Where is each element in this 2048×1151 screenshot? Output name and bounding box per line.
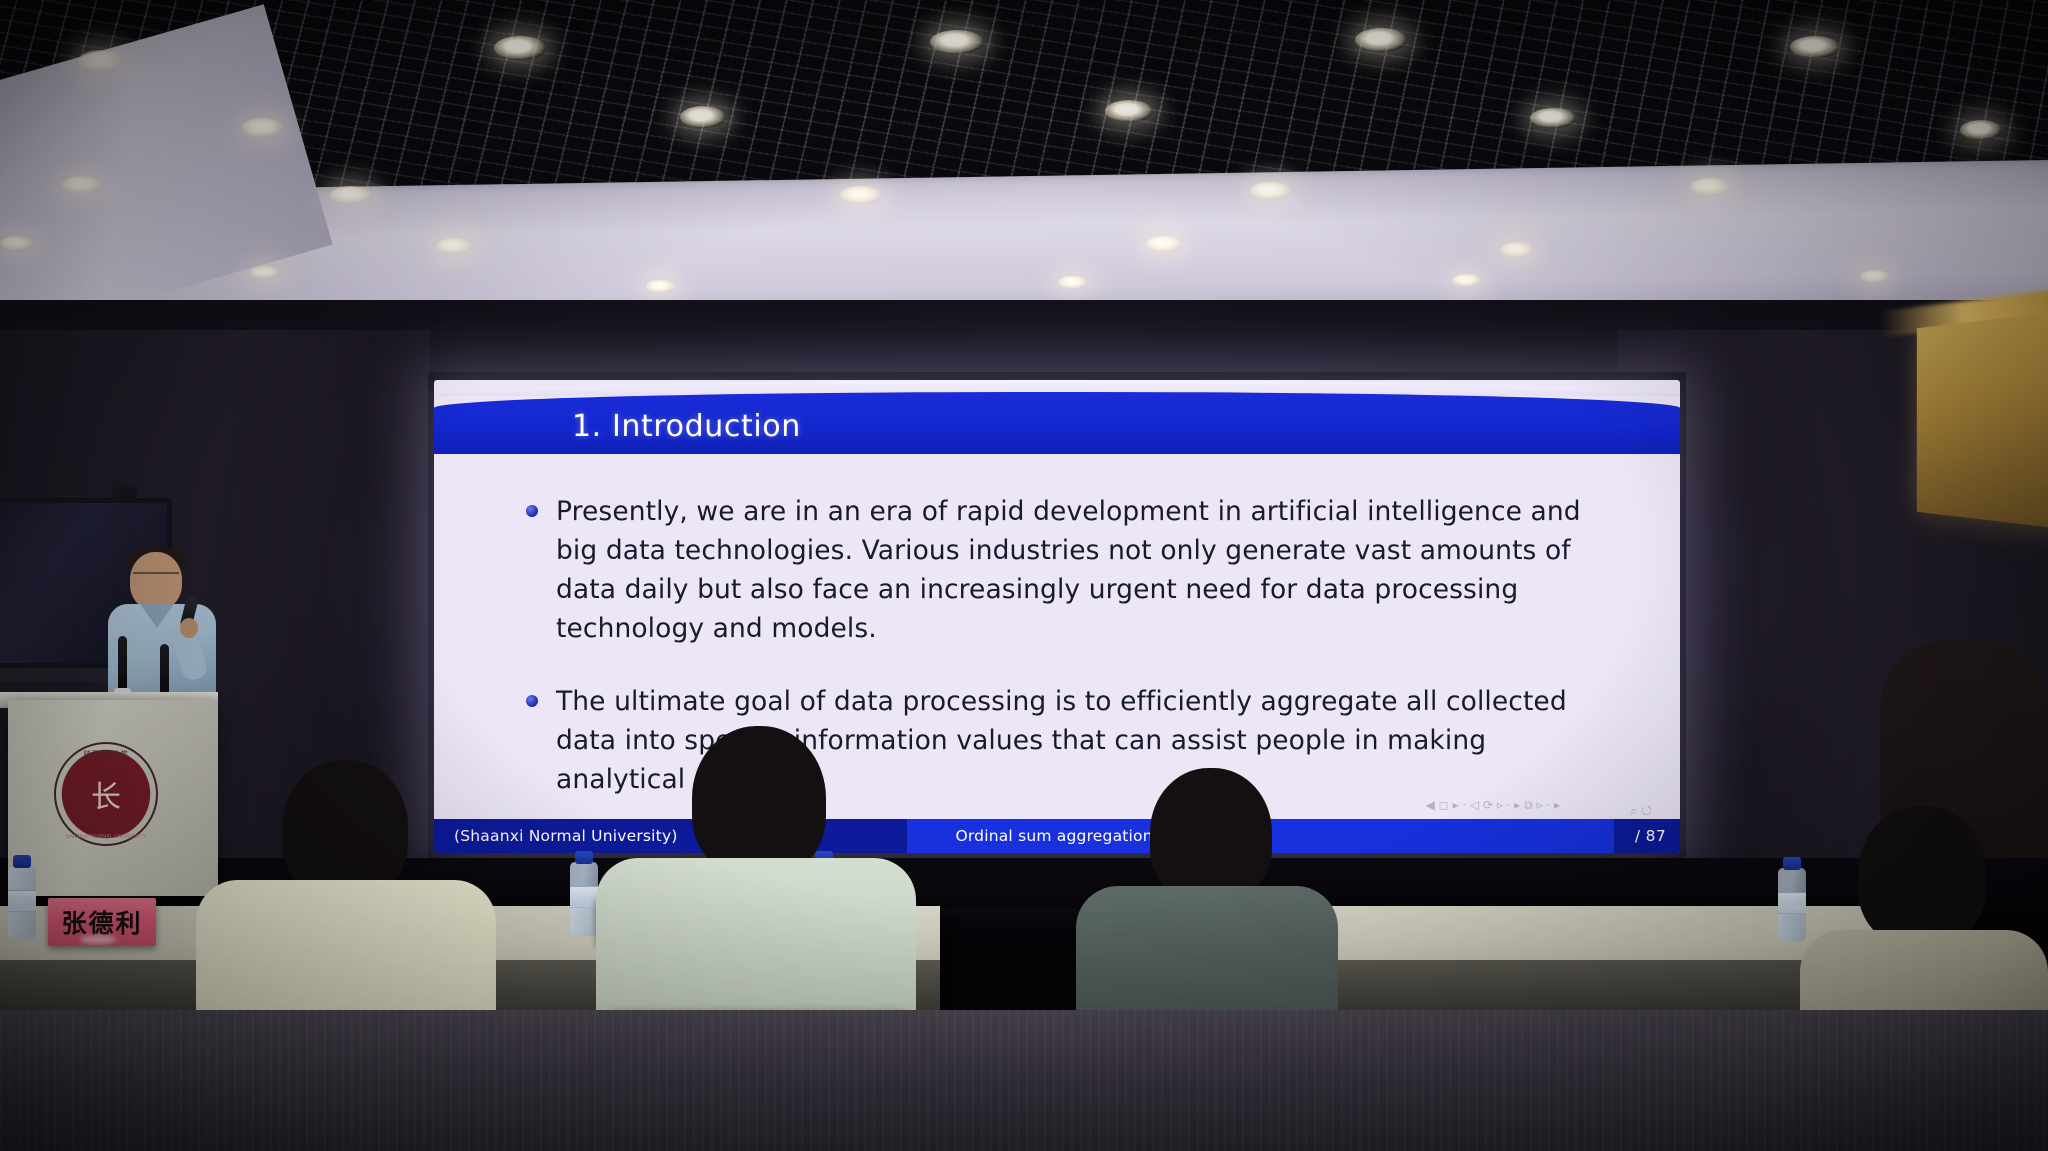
ceiling-downlight	[1250, 182, 1292, 200]
lecture-hall-photo: 1. Introduction Presently, we are in an …	[0, 0, 2048, 1151]
water-bottle	[8, 866, 36, 940]
ceiling-downlight	[436, 238, 472, 254]
water-bottle	[570, 862, 598, 936]
ceiling-downlight	[62, 176, 102, 194]
zoom-controls[interactable]: ⌕ ↺	[1630, 803, 1652, 819]
bullet-dot-icon	[526, 695, 538, 707]
ceiling-downlight	[1690, 178, 1730, 196]
ceiling-downlight	[930, 30, 984, 54]
ceiling-downlight	[78, 50, 124, 72]
ceiling-downlight	[1355, 28, 1407, 52]
attendee-head	[692, 726, 826, 876]
ceiling-downlight	[250, 266, 280, 279]
ceiling-downlight	[1058, 276, 1088, 289]
slide-bullet: Presently, we are in an era of rapid dev…	[526, 492, 1624, 648]
presenter-head	[130, 552, 182, 610]
ceiling-downlight	[680, 106, 726, 128]
attendee-head	[1150, 768, 1272, 902]
ceiling-downlight	[1452, 274, 1482, 287]
footer-page-number: / 87	[1614, 819, 1680, 853]
attendee-head	[282, 760, 408, 898]
carpet-floor	[0, 1010, 2048, 1151]
navigation-glyphs[interactable]: ◀ ◻ ▸ · ◁ ⟳ ▹ · ▸ ⧉ ▹ · ▸	[1426, 798, 1560, 813]
bottle-label	[570, 886, 598, 908]
ceiling-downlight	[1146, 236, 1182, 252]
ceiling-downlight	[646, 280, 676, 293]
bottle-cap	[1783, 857, 1801, 870]
ceiling-downlight	[1960, 120, 2002, 140]
slide-title-bar: 1. Introduction	[434, 392, 1680, 454]
bottle-cap	[13, 855, 31, 868]
podium: 陕西师范大学 长 SHAANXI NORMAL UNIVERSITY	[8, 700, 218, 896]
slide-bullet-text: Presently, we are in an era of rapid dev…	[556, 492, 1586, 648]
podium-microphone-left	[118, 636, 127, 692]
bullet-dot-icon	[526, 505, 538, 517]
right-wall-warm-panel	[1917, 310, 2048, 529]
bottle-label	[8, 890, 36, 912]
ceiling-downlight	[1105, 100, 1153, 122]
ceiling-downlight	[1530, 108, 1576, 128]
seal-bottom-text: SHAANXI NORMAL UNIVERSITY	[56, 834, 156, 840]
ceiling-downlight	[242, 118, 284, 138]
ceiling-downlight	[1790, 36, 1840, 58]
slide-title: 1. Introduction	[572, 409, 801, 444]
beamer-navigation-bar[interactable]: ◀ ◻ ▸ · ◁ ⟳ ▹ · ▸ ⧉ ▹ · ▸	[1426, 798, 1560, 813]
seal-top-text: 陕西师范大学	[56, 749, 156, 759]
presenter-hand	[180, 618, 198, 638]
carpet-texture	[0, 1010, 2048, 1151]
name-placard: 张德利	[48, 898, 156, 946]
ceiling-downlight	[330, 186, 372, 204]
magnifier-icon[interactable]: ⌕ ↺	[1630, 803, 1652, 819]
ceiling-downlight	[1500, 242, 1534, 258]
ceiling-downlight	[0, 236, 34, 251]
monitor-camera-icon	[112, 487, 138, 498]
bottle-cap	[575, 851, 593, 864]
ceiling-downlight	[1860, 270, 1890, 283]
presenter-glasses	[133, 572, 179, 581]
university-seal-logo: 陕西师范大学 长 SHAANXI NORMAL UNIVERSITY	[54, 742, 158, 846]
ceiling-downlight	[840, 186, 882, 204]
attendee-head	[1858, 806, 1986, 946]
ceiling-downlight	[494, 36, 546, 60]
seal-center-glyph: 长	[73, 761, 139, 827]
